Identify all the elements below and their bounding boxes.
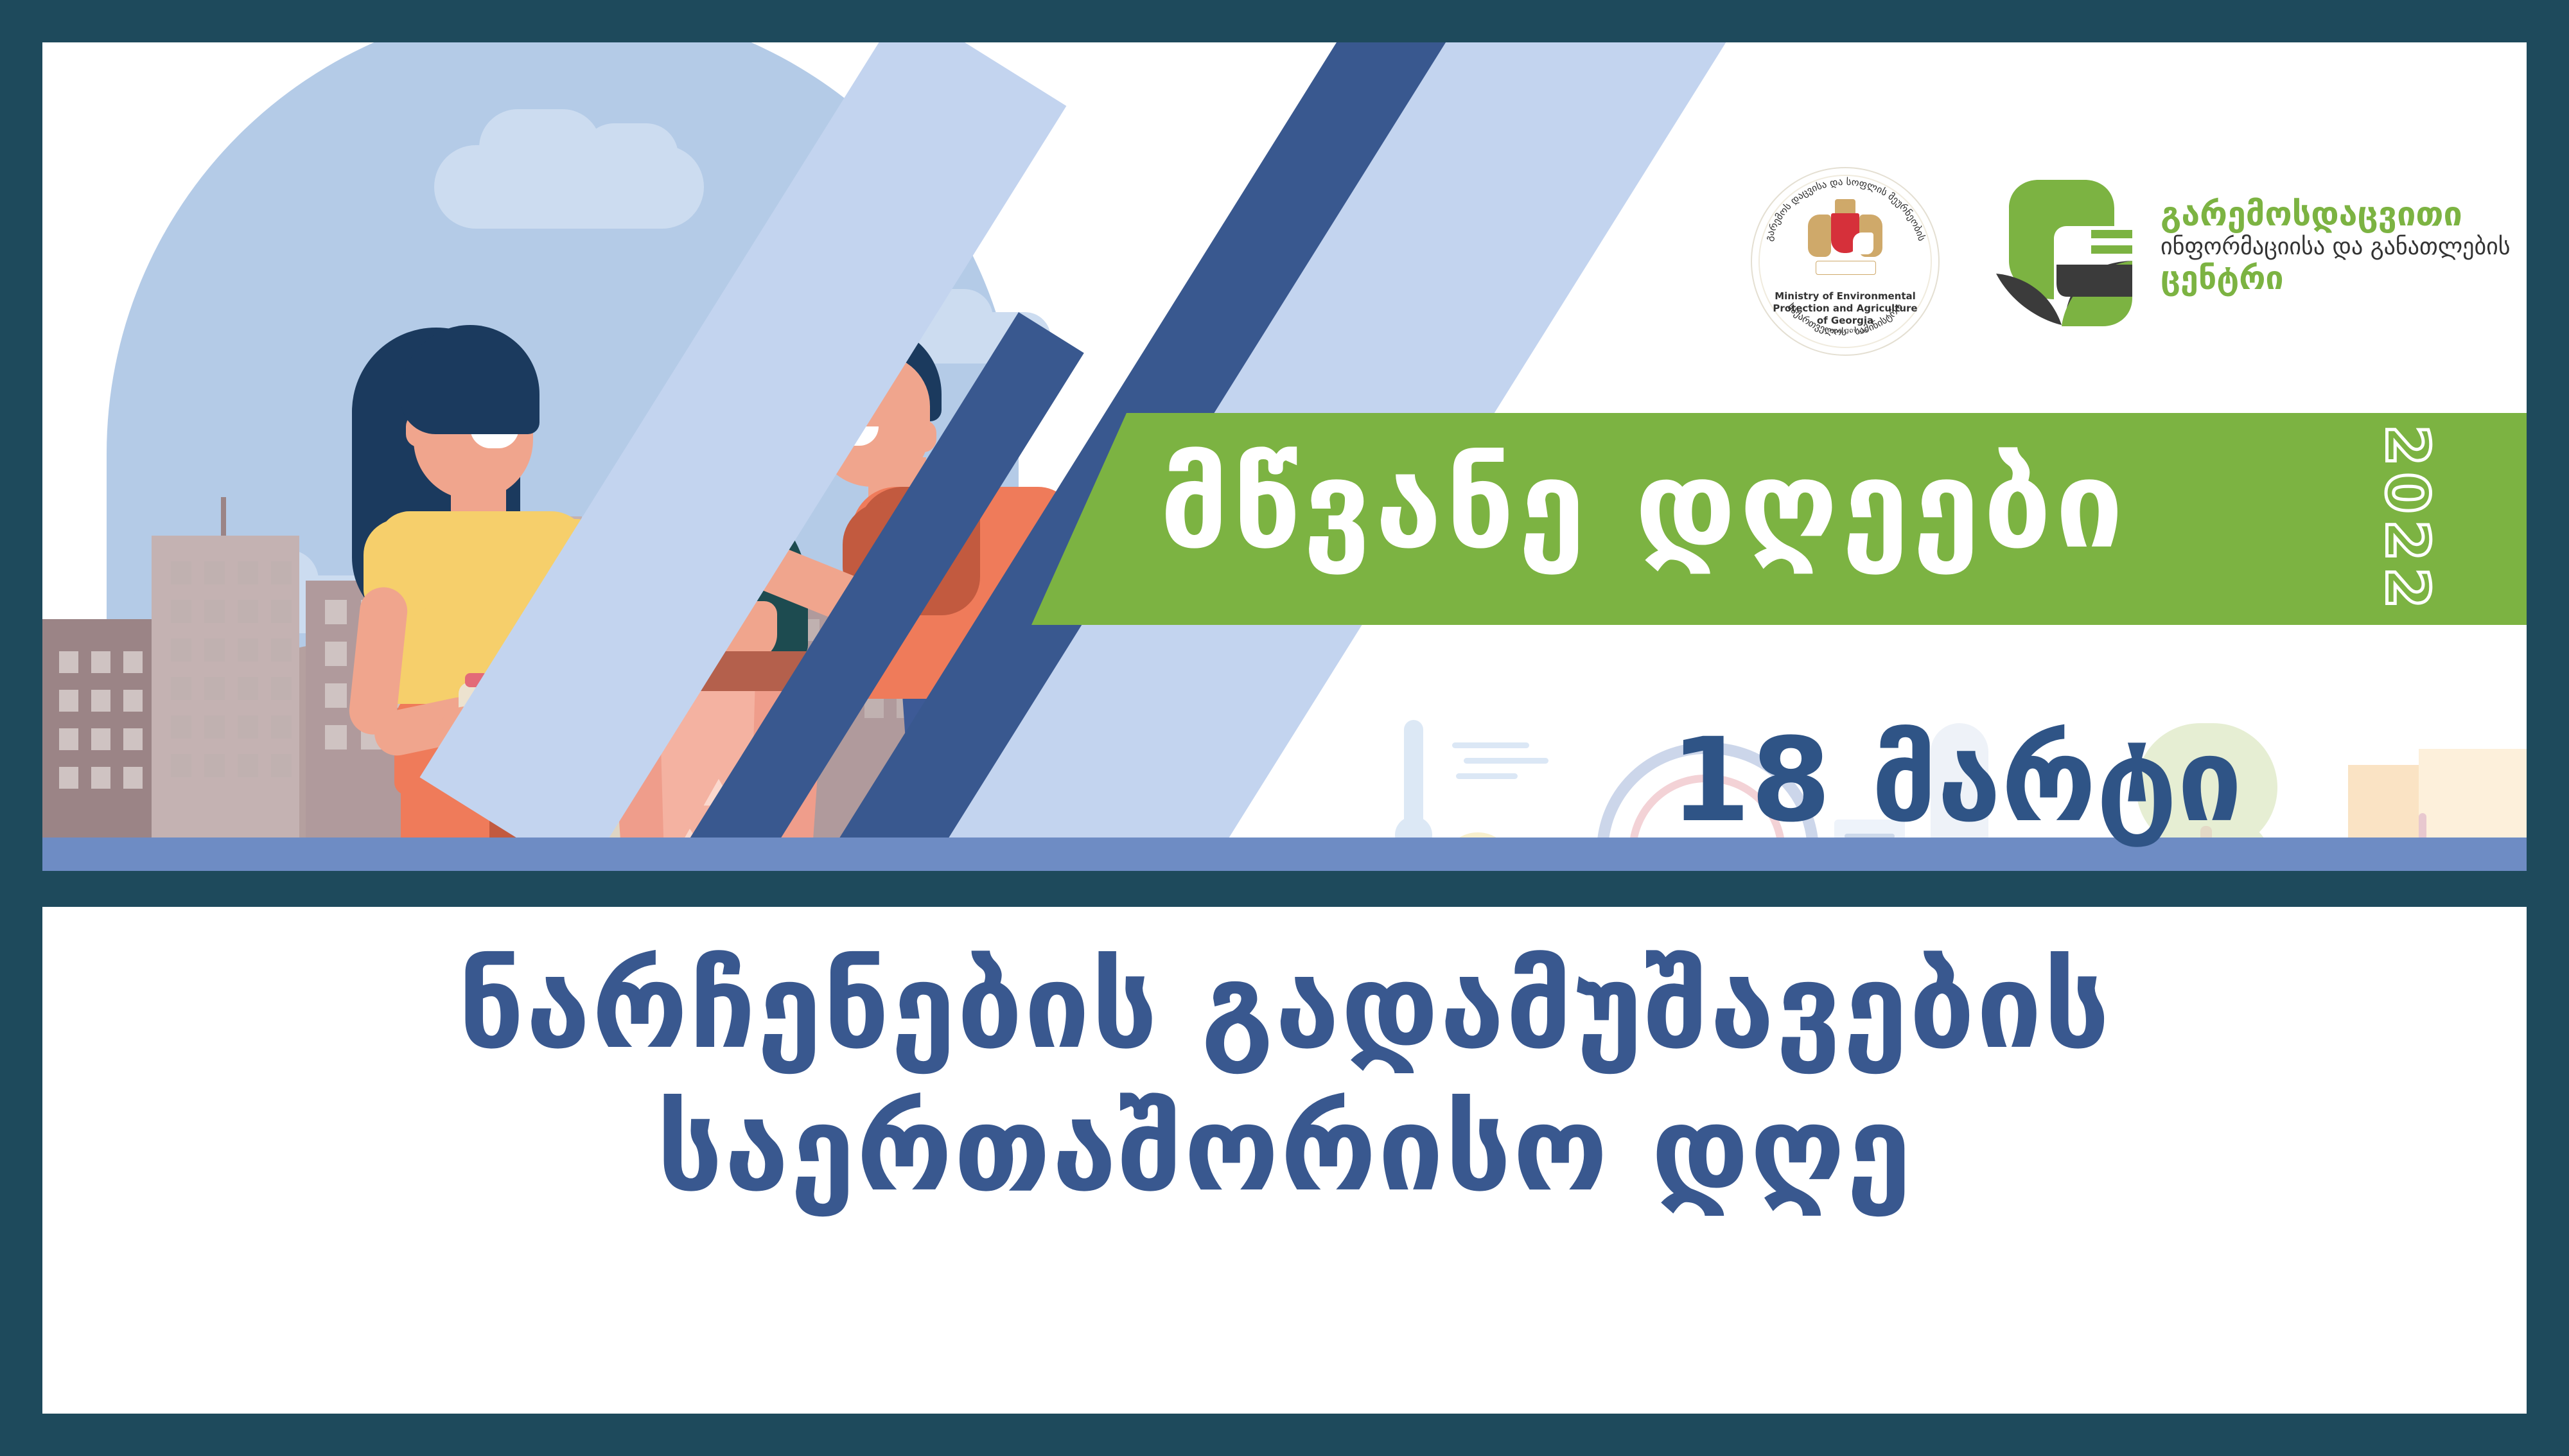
eiec-line-1: გარემოსდაცვითი [2161, 198, 2507, 232]
ribbon-year: 2022 [2311, 423, 2503, 616]
shield-icon [1831, 213, 1859, 253]
ministry-url: mepa.gov.ge [1752, 326, 1938, 335]
ministry-name-line3: of Georgia [1752, 315, 1938, 327]
ribbon-year-text: 2022 [2373, 425, 2442, 615]
ministry-name-line1: Ministry of Environmental [1752, 290, 1938, 303]
thermometer-icon [1404, 720, 1423, 836]
poster-canvas: გარემოს დაცვისა და სოფლის მეურნეობის საქ… [0, 0, 2569, 1456]
cloud-icon [434, 145, 704, 229]
divider-teal-bar [42, 871, 2527, 907]
crown-icon [1835, 199, 1855, 213]
ministry-seal-logo: გარემოს დაცვისა და სოფლის მეურნეობის საქ… [1751, 167, 1940, 356]
green-ribbon-banner: მწვანე დღეები 2022 [1031, 413, 2527, 625]
ear [911, 420, 936, 452]
saint-george-icon [1853, 232, 1873, 254]
page-title: ნარჩენების გადამუშავების საერთაშორისო დღ… [42, 935, 2527, 1220]
headline-line-1: ნარჩენების გადამუშავების [42, 935, 2527, 1078]
ministry-name-en: Ministry of Environmental Protection and… [1752, 290, 1938, 326]
coat-of-arms [1813, 202, 1877, 279]
motto-banner [1816, 261, 1876, 275]
eiec-logo: გარემოსდაცვითი ინფორმაციისა და განათლები… [1995, 164, 2496, 338]
event-date: 18 მარტი [1455, 723, 2457, 839]
divider-blue-line [42, 854, 2527, 871]
lion-left [1808, 215, 1831, 257]
eiec-line-2: ინფორმაციისა და განათლების [2161, 234, 2507, 260]
headline-line-2: საერთაშორისო დღე [42, 1078, 2527, 1220]
eiec-line-3: ცენტრი [2161, 261, 2507, 295]
eiec-logo-text: გარემოსდაცვითი ინფორმაციისა და განათლები… [2161, 198, 2507, 295]
ministry-name-line2: Protection and Agriculture [1752, 303, 1938, 315]
logo-row: გარემოს დაცვისა და სოფლის მეურნეობის საქ… [1738, 164, 2496, 338]
eiec-logo-mark [1995, 171, 2149, 331]
ribbon-title: მწვანე დღეები [1160, 445, 2380, 566]
poster-inner: გარემოს დაცვისა და სოფლის მეურნეობის საქ… [42, 42, 2527, 1414]
